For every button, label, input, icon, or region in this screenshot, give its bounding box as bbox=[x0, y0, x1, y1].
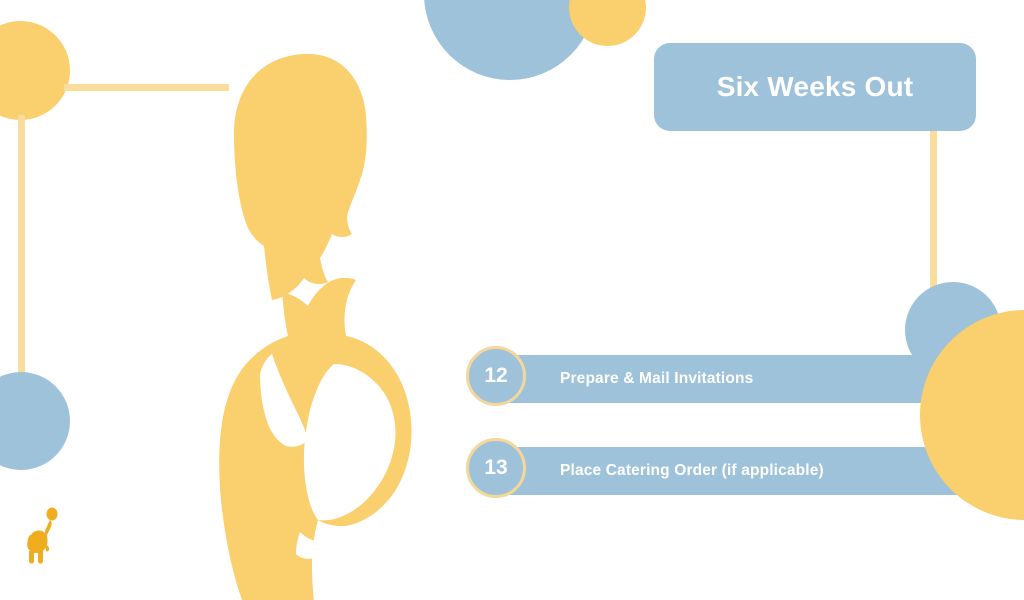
task-label: Place Catering Order (if applicable) bbox=[560, 462, 824, 480]
task-number: 13 bbox=[484, 456, 507, 480]
yellow-circle-decoration bbox=[0, 21, 70, 120]
task-number-badge: 13 bbox=[466, 438, 526, 498]
task-bar[interactable]: Place Catering Order (if applicable) bbox=[502, 447, 986, 495]
task-number-badge: 12 bbox=[466, 346, 526, 406]
task-number: 12 bbox=[484, 364, 507, 388]
task-checklist: Prepare & Mail Invitations 12 Place Cate… bbox=[466, 355, 986, 539]
pregnant-woman-silhouette-icon bbox=[196, 42, 456, 600]
task-bar[interactable]: Prepare & Mail Invitations bbox=[502, 355, 970, 403]
slide-canvas: Prepare & Mail Invitations 12 Place Cate… bbox=[0, 0, 1024, 600]
task-label: Prepare & Mail Invitations bbox=[560, 370, 753, 388]
page-title: Six Weeks Out bbox=[717, 71, 914, 103]
connector-line-right-vertical bbox=[930, 128, 937, 296]
elephant-with-ball-icon bbox=[22, 505, 70, 567]
blue-circle-decoration-left bbox=[0, 372, 70, 470]
connector-line-left-vertical bbox=[18, 115, 25, 377]
list-item[interactable]: Place Catering Order (if applicable) 13 bbox=[466, 447, 986, 495]
list-item[interactable]: Prepare & Mail Invitations 12 bbox=[466, 355, 986, 403]
slide-title-card: Six Weeks Out bbox=[654, 43, 976, 131]
